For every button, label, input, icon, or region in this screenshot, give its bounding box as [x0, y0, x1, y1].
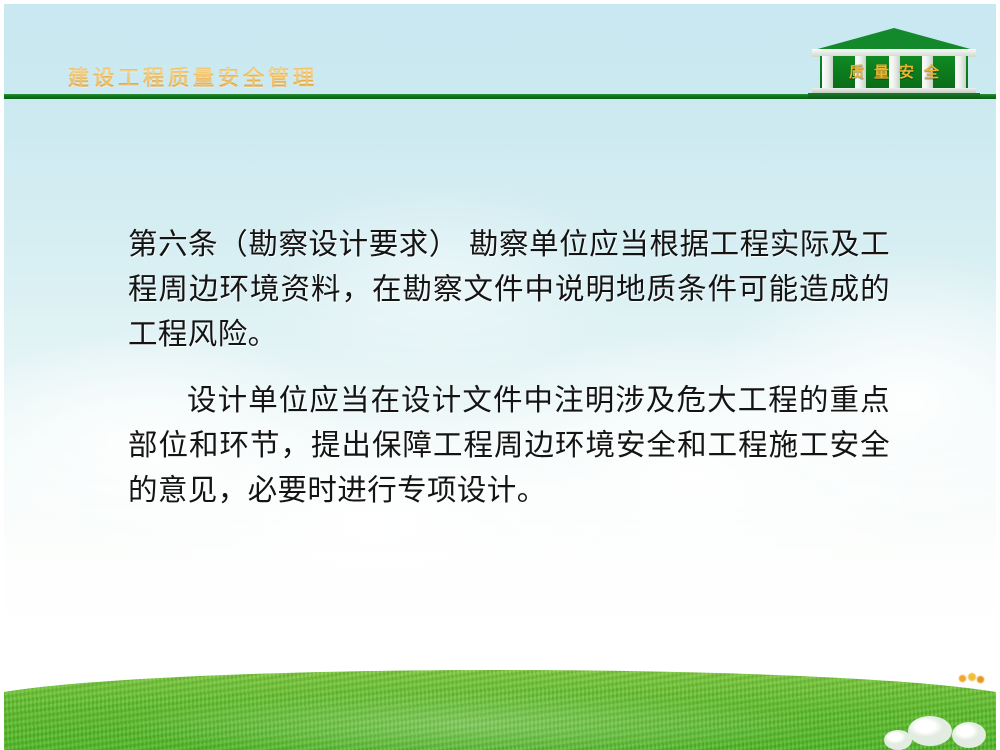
logo-label: 质量安全	[808, 61, 980, 82]
body-paragraph: 第六条（勘察设计要求） 勘察单位应当根据工程实际及工程周边环境资料，在勘察文件中…	[128, 222, 890, 357]
sheep-icon	[908, 716, 952, 746]
flower-cluster-icon	[958, 672, 988, 686]
temple-base-icon	[808, 93, 980, 99]
slide-frame-left	[0, 0, 4, 750]
presentation-slide: 建设工程质量安全管理 质量安全 第六条（勘察设计要求） 勘察单位应当根据工程实际…	[0, 0, 1000, 750]
grass-footer	[0, 650, 1000, 750]
sheep-icon	[952, 722, 986, 748]
body-paragraph: 设计单位应当在设计文件中注明涉及危大工程的重点部位和环节，提出保障工程周边环境安…	[128, 378, 890, 513]
slide-frame-top	[0, 0, 1000, 4]
slide-frame-right	[996, 0, 1000, 750]
grass-field	[0, 670, 1000, 750]
page-title: 建设工程质量安全管理	[68, 62, 318, 92]
temple-pediment-icon	[814, 28, 974, 50]
quality-safety-temple-logo: 质量安全	[808, 28, 980, 100]
slide-body: 第六条（勘察设计要求） 勘察单位应当根据工程实际及工程周边环境资料，在勘察文件中…	[128, 222, 890, 513]
